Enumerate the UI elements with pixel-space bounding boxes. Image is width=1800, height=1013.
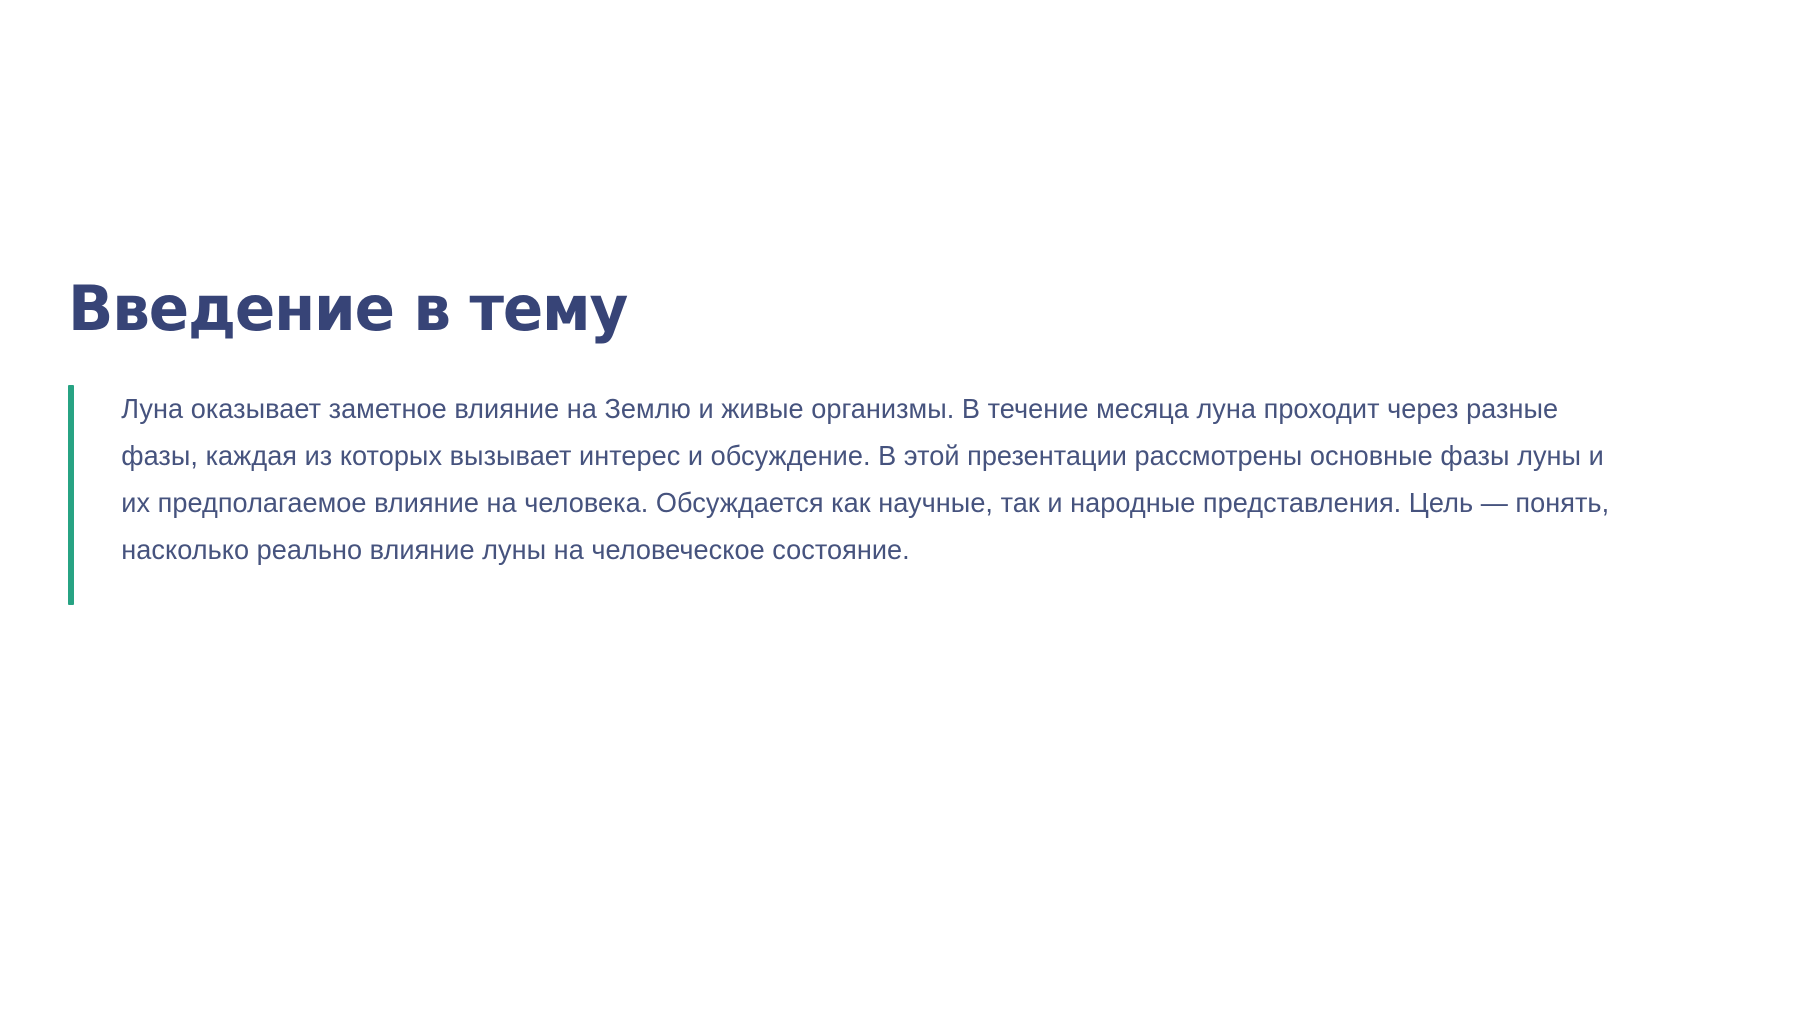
- body-paragraph: Луна оказывает заметное влияние на Землю…: [74, 385, 1634, 605]
- presentation-slide: Введение в тему Луна оказывает заметное …: [0, 0, 1800, 1013]
- page-title: Введение в тему: [68, 278, 627, 340]
- body-content-block: Луна оказывает заметное влияние на Землю…: [68, 385, 1658, 605]
